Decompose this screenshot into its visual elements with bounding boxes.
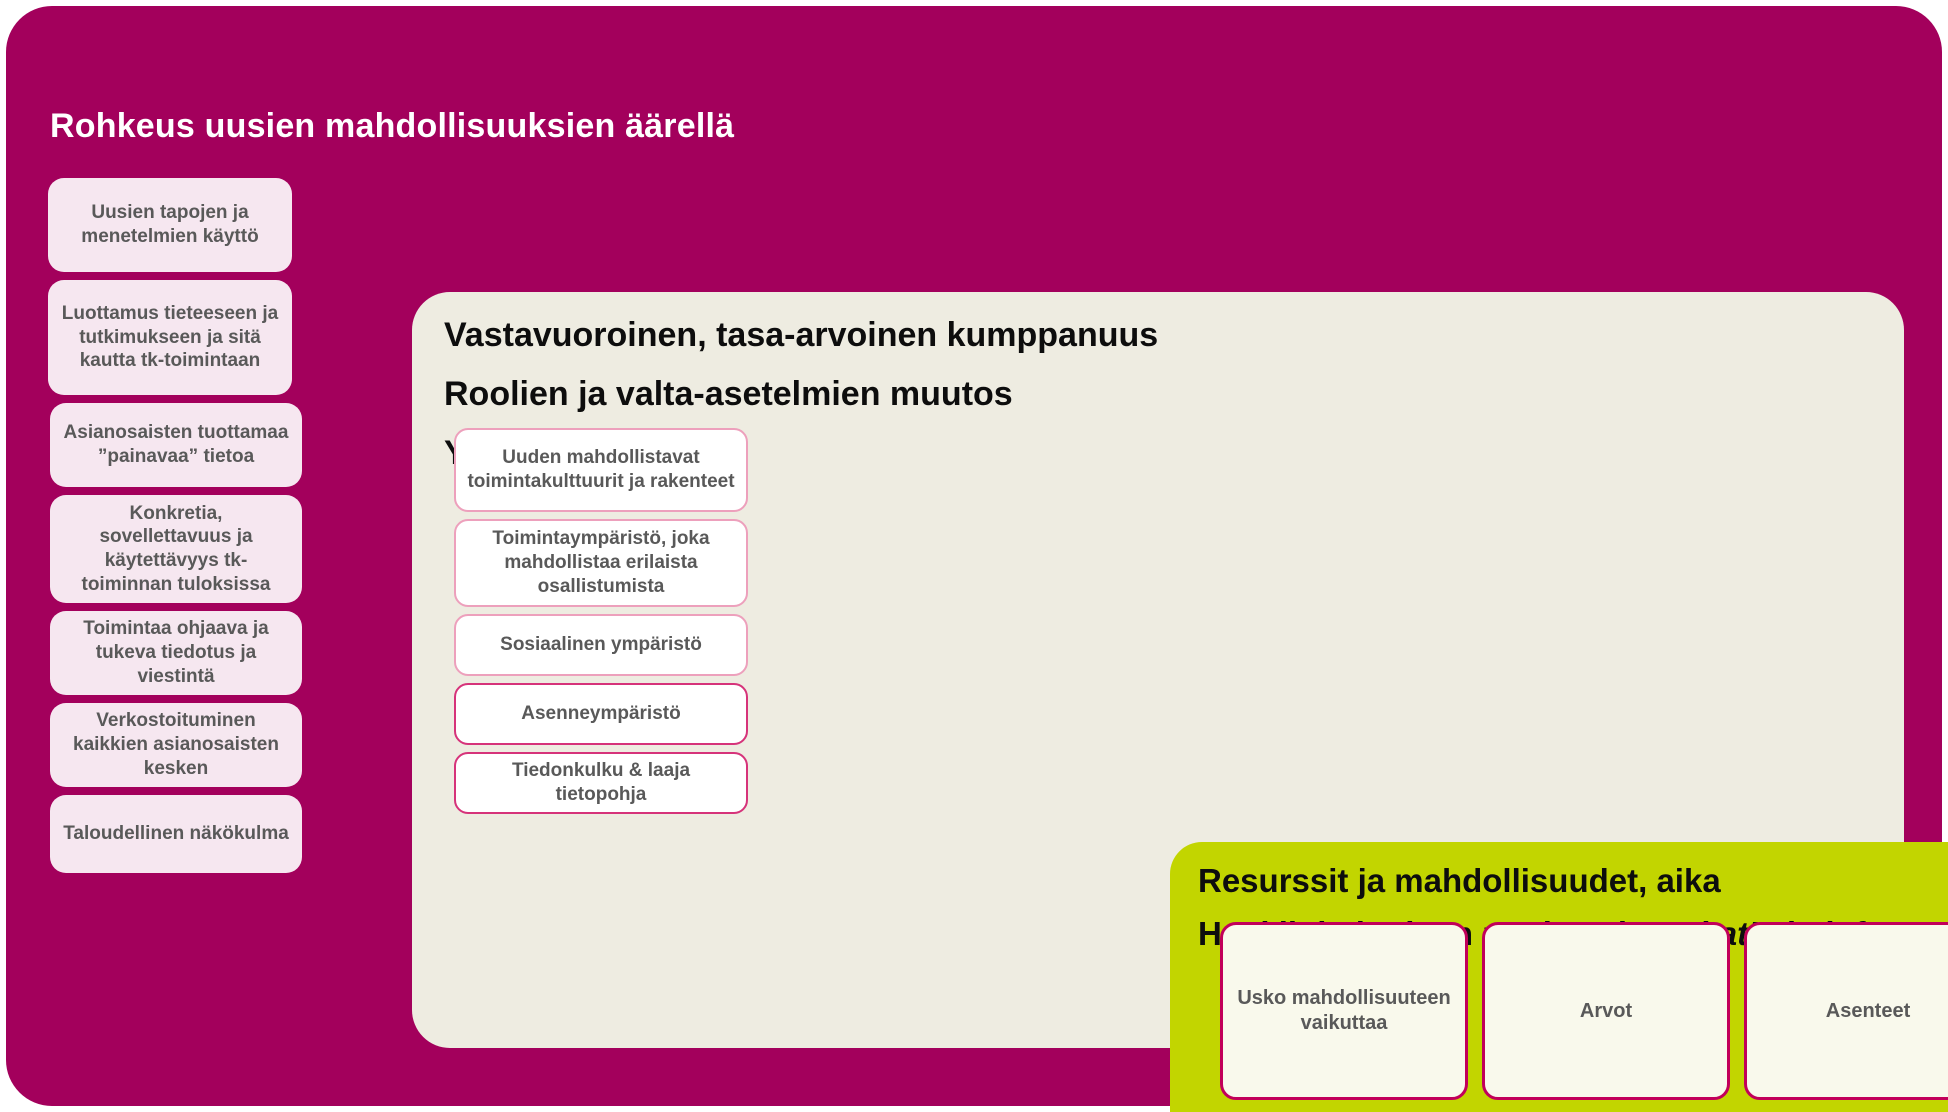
- value-card-1: Usko mahdollisuuteen vaikuttaa: [1220, 922, 1468, 1100]
- sidebar-item-label: Taloudellinen näkökulma: [63, 822, 289, 846]
- environment-item-label: Uuden mahdollistavat toimintakulttuurit …: [466, 446, 736, 494]
- sidebar: Uusien tapojen ja menetelmien käyttö Luo…: [48, 178, 292, 881]
- sidebar-item-label: Asianosaisten tuottamaa ”painavaa” tieto…: [62, 421, 290, 469]
- value-card-3: Asenteet: [1744, 922, 1948, 1100]
- resources-headings: Resurssit ja mahdollisuudet, aika Henkil…: [1198, 864, 1948, 969]
- value-cards-row: Usko mahdollisuuteen vaikuttaa Arvot Ase…: [1220, 922, 1948, 1100]
- sidebar-item-6: Verkostoituminen kaikkien asianosaisten …: [50, 703, 302, 787]
- environment-item-3: Sosiaalinen ympäristö: [454, 614, 748, 676]
- sidebar-item-label: Uusien tapojen ja menetelmien käyttö: [60, 201, 280, 249]
- outer-magenta-panel: Rohkeus uusien mahdollisuuksien äärellä …: [6, 6, 1942, 1106]
- sidebar-item-label: Toimintaa ohjaava ja tukeva tiedotus ja …: [62, 617, 290, 688]
- value-card-label: Arvot: [1580, 999, 1632, 1024]
- partnership-panel: Vastavuoroinen, tasa-arvoinen kumppanuus…: [412, 292, 1904, 1048]
- environment-item-5: Tiedonkulku & laaja tietopohja: [454, 752, 748, 814]
- partnership-heading-2: Roolien ja valta-asetelmien muutos: [444, 377, 1544, 411]
- resources-heading-1: Resurssit ja mahdollisuudet, aika: [1198, 864, 1948, 899]
- environment-item-4: Asenneympäristö: [454, 683, 748, 745]
- diagram-canvas: Rohkeus uusien mahdollisuuksien äärellä …: [0, 0, 1948, 1112]
- sidebar-item-4: Konkretia, sovellettavuus ja käytettävyy…: [50, 495, 302, 603]
- sidebar-item-label: Luottamus tieteeseen ja tutkimukseen ja …: [60, 302, 280, 373]
- sidebar-item-2: Luottamus tieteeseen ja tutkimukseen ja …: [48, 280, 292, 395]
- sidebar-item-7: Taloudellinen näkökulma: [50, 795, 302, 873]
- environment-item-label: Toimintaympäristö, joka mahdollistaa eri…: [466, 527, 736, 598]
- resources-motivation-panel: Resurssit ja mahdollisuudet, aika Henkil…: [1170, 842, 1948, 1112]
- partnership-heading-1: Vastavuoroinen, tasa-arvoinen kumppanuus: [444, 318, 1544, 352]
- environment-item-label: Asenneympäristö: [521, 702, 680, 726]
- page-title: Rohkeus uusien mahdollisuuksien äärellä: [50, 106, 1250, 147]
- sidebar-item-label: Verkostoituminen kaikkien asianosaisten …: [62, 709, 290, 780]
- sidebar-item-5: Toimintaa ohjaava ja tukeva tiedotus ja …: [50, 611, 302, 695]
- environment-list: Uuden mahdollistavat toimintakulttuurit …: [454, 428, 748, 821]
- sidebar-item-label: Konkretia, sovellettavuus ja käytettävyy…: [62, 502, 290, 597]
- environment-item-label: Tiedonkulku & laaja tietopohja: [466, 759, 736, 807]
- value-card-label: Usko mahdollisuuteen vaikuttaa: [1231, 986, 1457, 1036]
- sidebar-item-3: Asianosaisten tuottamaa ”painavaa” tieto…: [50, 403, 302, 487]
- environment-item-2: Toimintaympäristö, joka mahdollistaa eri…: [454, 519, 748, 607]
- sidebar-item-1: Uusien tapojen ja menetelmien käyttö: [48, 178, 292, 272]
- value-card-label: Asenteet: [1826, 999, 1910, 1024]
- environment-item-1: Uuden mahdollistavat toimintakulttuurit …: [454, 428, 748, 512]
- value-card-2: Arvot: [1482, 922, 1730, 1100]
- environment-item-label: Sosiaalinen ympäristö: [500, 633, 702, 657]
